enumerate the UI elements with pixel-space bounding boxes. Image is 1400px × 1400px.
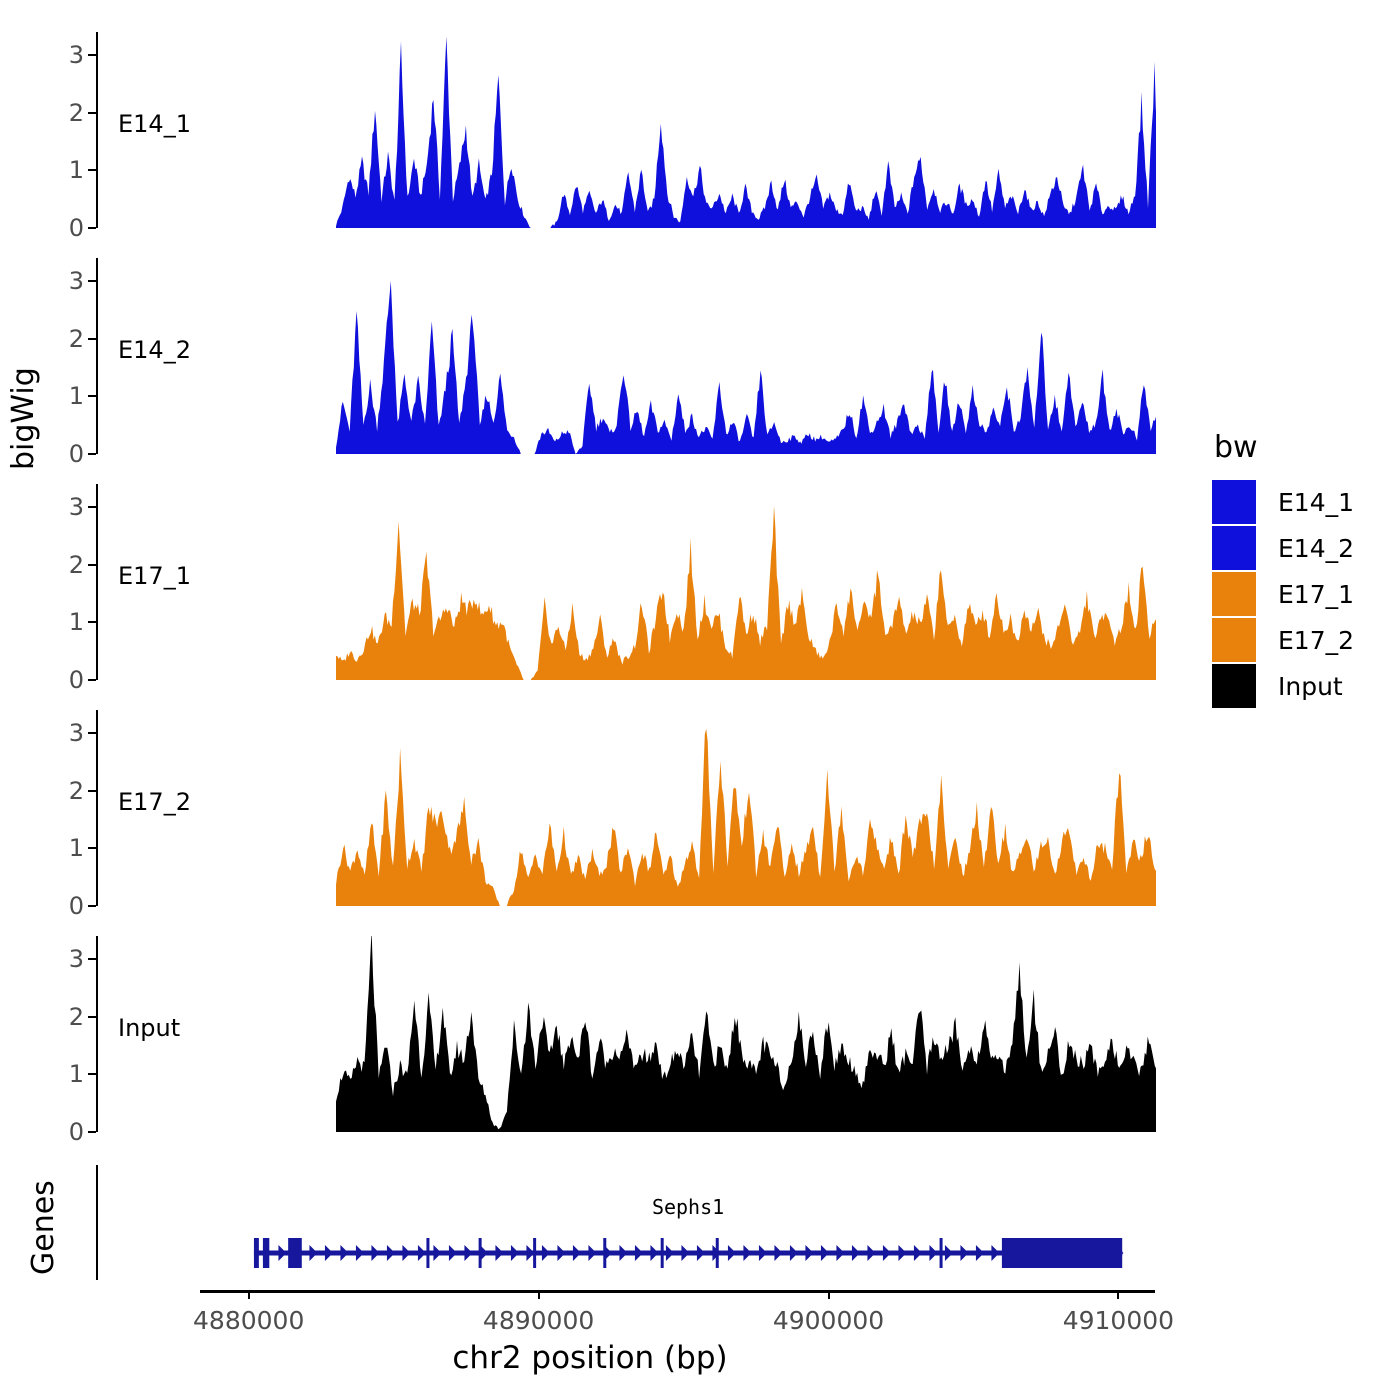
legend-label: E14_1 [1278,488,1354,517]
x-tick-label: 4890000 [483,1306,594,1335]
y-tick [88,1016,96,1018]
gene-exon [254,1238,259,1268]
track-panel-e17_1: 0123E17_1 [96,484,1156,680]
gene-exon [661,1238,664,1268]
y-tick [88,453,96,455]
legend-label: Input [1278,672,1343,701]
y-tick [88,280,96,282]
y-tick [88,1131,96,1133]
legend-swatch [1212,480,1256,524]
gene-model [96,1165,1156,1280]
x-tick-label: 4880000 [193,1306,304,1335]
x-axis-title: chr2 position (bp) [0,1340,1180,1376]
legend: bw E14_1E14_2E17_1E17_2Input [1212,430,1354,709]
gene-exon [288,1238,302,1268]
legend-item-e14_1[interactable]: E14_1 [1212,479,1354,525]
gene-exon [1002,1238,1122,1268]
x-axis-line [200,1290,1155,1293]
track-panel-e17_2: 0123E17_2 [96,710,1156,906]
track-panel-e14_2: 0123E14_2 [96,258,1156,454]
gene-exon [603,1238,606,1268]
y-tick [88,338,96,340]
y-tick-label: 0 [69,440,84,468]
y-tick-label: 1 [69,834,84,862]
genes-panel: Sephs1 [96,1165,1156,1280]
signal-area-e14_1 [96,32,1156,228]
y-tick [88,905,96,907]
legend-swatch [1212,572,1256,616]
y-tick [88,790,96,792]
y-tick-label: 1 [69,156,84,184]
legend-item-e14_2[interactable]: E14_2 [1212,525,1354,571]
gene-exon [716,1238,719,1268]
y-tick [88,564,96,566]
legend-label: E17_1 [1278,580,1354,609]
y-tick-label: 0 [69,892,84,920]
legend-items: E14_1E14_2E17_1E17_2Input [1212,479,1354,709]
y-tick-label: 3 [69,945,84,973]
y-tick [88,506,96,508]
gene-exon [940,1238,943,1268]
y-tick-label: 0 [69,1118,84,1146]
legend-swatch [1212,664,1256,708]
x-tick [538,1290,540,1299]
legend-item-e17_2[interactable]: E17_2 [1212,617,1354,663]
x-tick [1117,1290,1119,1299]
legend-swatch [1212,526,1256,570]
y-tick-label: 2 [69,551,84,579]
y-tick [88,112,96,114]
legend-title: bw [1214,430,1354,465]
legend-item-input[interactable]: Input [1212,663,1354,709]
gene-exon [263,1238,269,1268]
x-tick-label: 4900000 [773,1306,884,1335]
y-tick-label: 1 [69,1060,84,1088]
y-tick-label: 1 [69,608,84,636]
signal-area-e17_1 [96,484,1156,680]
track-panel-e14_1: 0123E14_1 [96,32,1156,228]
y-tick-label: 2 [69,1003,84,1031]
signal-area-input [96,936,1156,1132]
y-tick [88,847,96,849]
y-tick [88,679,96,681]
y-axis-label-genes: Genes [26,1180,61,1275]
track-label-e14_1: E14_1 [118,110,191,138]
y-tick [88,1073,96,1075]
y-tick-label: 3 [69,267,84,295]
legend-swatch [1212,618,1256,662]
signal-area-e17_2 [96,710,1156,906]
y-tick-label: 1 [69,382,84,410]
signal-area-e14_2 [96,258,1156,454]
y-tick [88,227,96,229]
track-label-e17_2: E17_2 [118,788,191,816]
gene-exon [426,1238,429,1268]
y-tick-label: 3 [69,41,84,69]
genes-axis-line [96,1165,98,1280]
y-tick [88,621,96,623]
y-tick [88,958,96,960]
track-label-e14_2: E14_2 [118,336,191,364]
track-label-input: Input [118,1014,180,1042]
y-tick [88,395,96,397]
y-tick-label: 3 [69,493,84,521]
gene-exon [479,1238,482,1268]
legend-item-e17_1[interactable]: E17_1 [1212,571,1354,617]
legend-label: E14_2 [1278,534,1354,563]
gene-name-label: Sephs1 [652,1195,724,1219]
y-tick [88,54,96,56]
y-tick-label: 0 [69,214,84,242]
y-tick-label: 0 [69,666,84,694]
y-tick-label: 3 [69,719,84,747]
y-tick-label: 2 [69,777,84,805]
legend-label: E17_2 [1278,626,1354,655]
gene-exon [533,1238,536,1268]
x-tick [828,1290,830,1299]
x-tick [248,1290,250,1299]
y-axis-label-bigwig: bigWig [6,367,41,470]
y-tick-label: 2 [69,99,84,127]
track-panel-input: 0123Input [96,936,1156,1132]
x-tick-label: 4910000 [1063,1306,1174,1335]
y-tick-label: 2 [69,325,84,353]
y-tick [88,732,96,734]
y-tick [88,169,96,171]
track-label-e17_1: E17_1 [118,562,191,590]
